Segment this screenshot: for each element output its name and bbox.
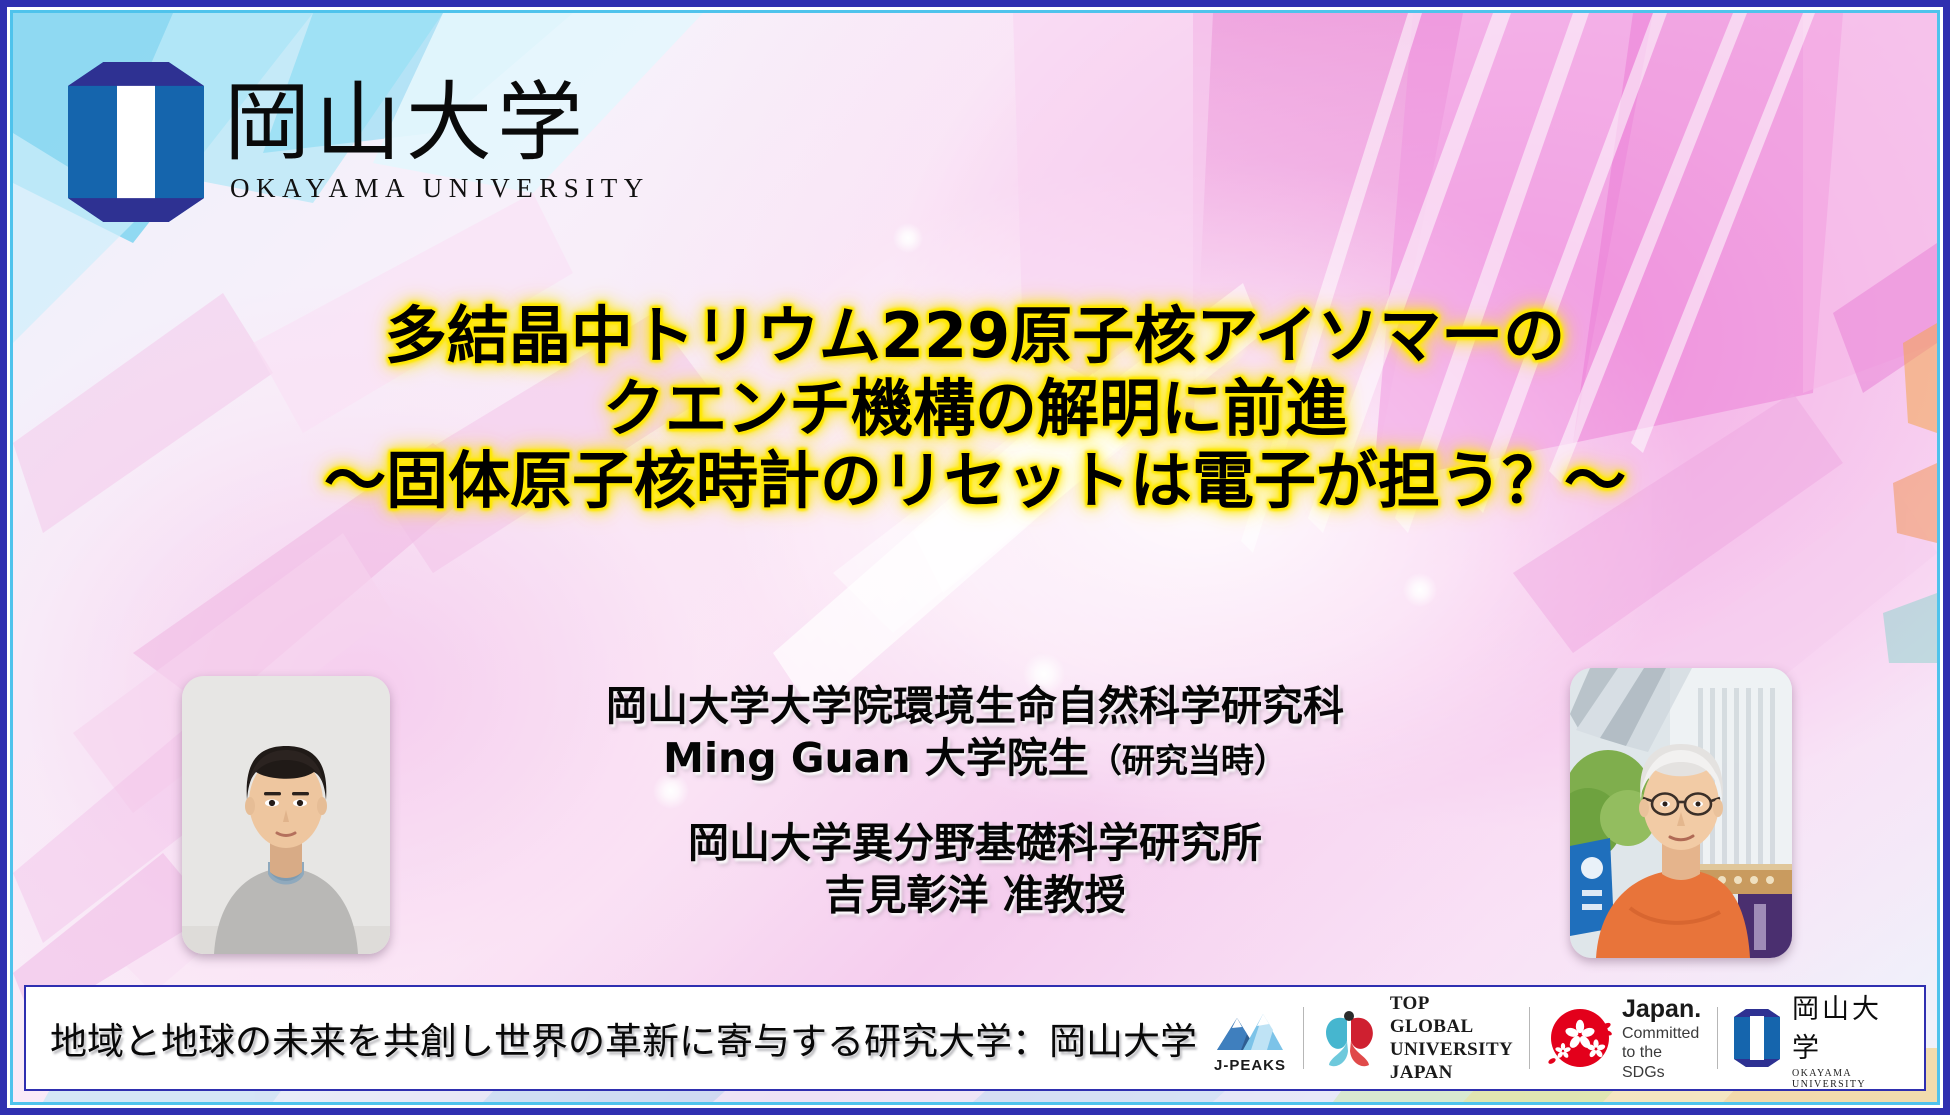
logo-name-en: OKAYAMA UNIVERSITY [224, 173, 650, 204]
author-1-name: Ming Guan 大学院生 [663, 734, 1089, 782]
footer-partner-logos: J-PEAKS TOP GLOBAL UNIVERSITY [1197, 987, 1924, 1089]
author-credits: 岡山大学大学院環境生命自然科学研究科 Ming Guan 大学院生（研究当時） … [0, 680, 1950, 922]
sdgs-wordmark: Japan. Committed to the SDGs [1622, 994, 1701, 1082]
author-2-name: 吉見彰洋 准教授 [0, 869, 1950, 921]
jpeaks-logo: J-PEAKS [1197, 997, 1303, 1079]
tgu-line-1: TOP GLOBAL [1390, 992, 1513, 1038]
title-line-2: クエンチ機構の解明に前進 [0, 373, 1950, 446]
okayama-octagon-icon [68, 62, 204, 222]
okayama-footer-logo: 岡山大学 OKAYAMA UNIVERSITY [1718, 997, 1912, 1079]
tgu-line-3: JAPAN [1390, 1061, 1513, 1084]
author-1-note: （研究当時） [1089, 741, 1287, 780]
footer-bar: 地域と地球の未来を共創し世界の革新に寄与する研究大学：岡山大学 J-PEAKS [24, 985, 1926, 1091]
sdgs-title: Japan. [1622, 994, 1701, 1024]
slide-root: 岡山大学 OKAYAMA UNIVERSITY 多結晶中トリウム229原子核アイ… [0, 0, 1950, 1115]
okayama-university-logo: 岡山大学 OKAYAMA UNIVERSITY [68, 57, 688, 227]
title-line-1: 多結晶中トリウム229原子核アイソマーの [0, 300, 1950, 373]
affiliation-1: 岡山大学大学院環境生命自然科学研究科 [0, 680, 1950, 732]
logo-name-jp: 岡山大学 [224, 80, 650, 168]
japan-sdgs-logo: Japan. Committed to the SDGs [1530, 997, 1717, 1079]
top-global-university-logo: TOP GLOBAL UNIVERSITY JAPAN [1304, 997, 1529, 1079]
sparkle [1403, 573, 1437, 607]
sakura-circle-icon [1546, 1005, 1612, 1071]
okayama-footer-en: OKAYAMA UNIVERSITY [1792, 1068, 1896, 1090]
okayama-footer-wordmark: 岡山大学 OKAYAMA UNIVERSITY [1792, 987, 1896, 1090]
author-1-row: Ming Guan 大学院生（研究当時） [0, 732, 1950, 784]
affiliation-2: 岡山大学異分野基礎科学研究所 [0, 817, 1950, 869]
tgu-line-2: UNIVERSITY [1390, 1038, 1513, 1061]
tgu-wordmark: TOP GLOBAL UNIVERSITY JAPAN [1390, 992, 1513, 1085]
footer-tagline: 地域と地球の未来を共創し世界の革新に寄与する研究大学：岡山大学 [26, 1011, 1197, 1065]
logo-wordmark: 岡山大学 OKAYAMA UNIVERSITY [224, 80, 650, 205]
jpeaks-label: J-PEAKS [1214, 1057, 1286, 1074]
title-line-3: 〜固体原子核時計のリセットは電子が担う？〜 [0, 445, 1950, 518]
page-title: 多結晶中トリウム229原子核アイソマーの クエンチ機構の解明に前進 〜固体原子核… [0, 300, 1950, 518]
butterfly-icon [1320, 1007, 1380, 1069]
okayama-octagon-icon-small [1734, 1009, 1780, 1067]
okayama-footer-jp: 岡山大学 [1792, 987, 1896, 1065]
sparkle [893, 223, 923, 253]
author-block-gap [0, 785, 1950, 817]
sdgs-line-2: to the SDGs [1622, 1043, 1701, 1081]
jpeaks-mountain-icon [1213, 1002, 1287, 1054]
sdgs-line-1: Committed [1622, 1024, 1701, 1043]
